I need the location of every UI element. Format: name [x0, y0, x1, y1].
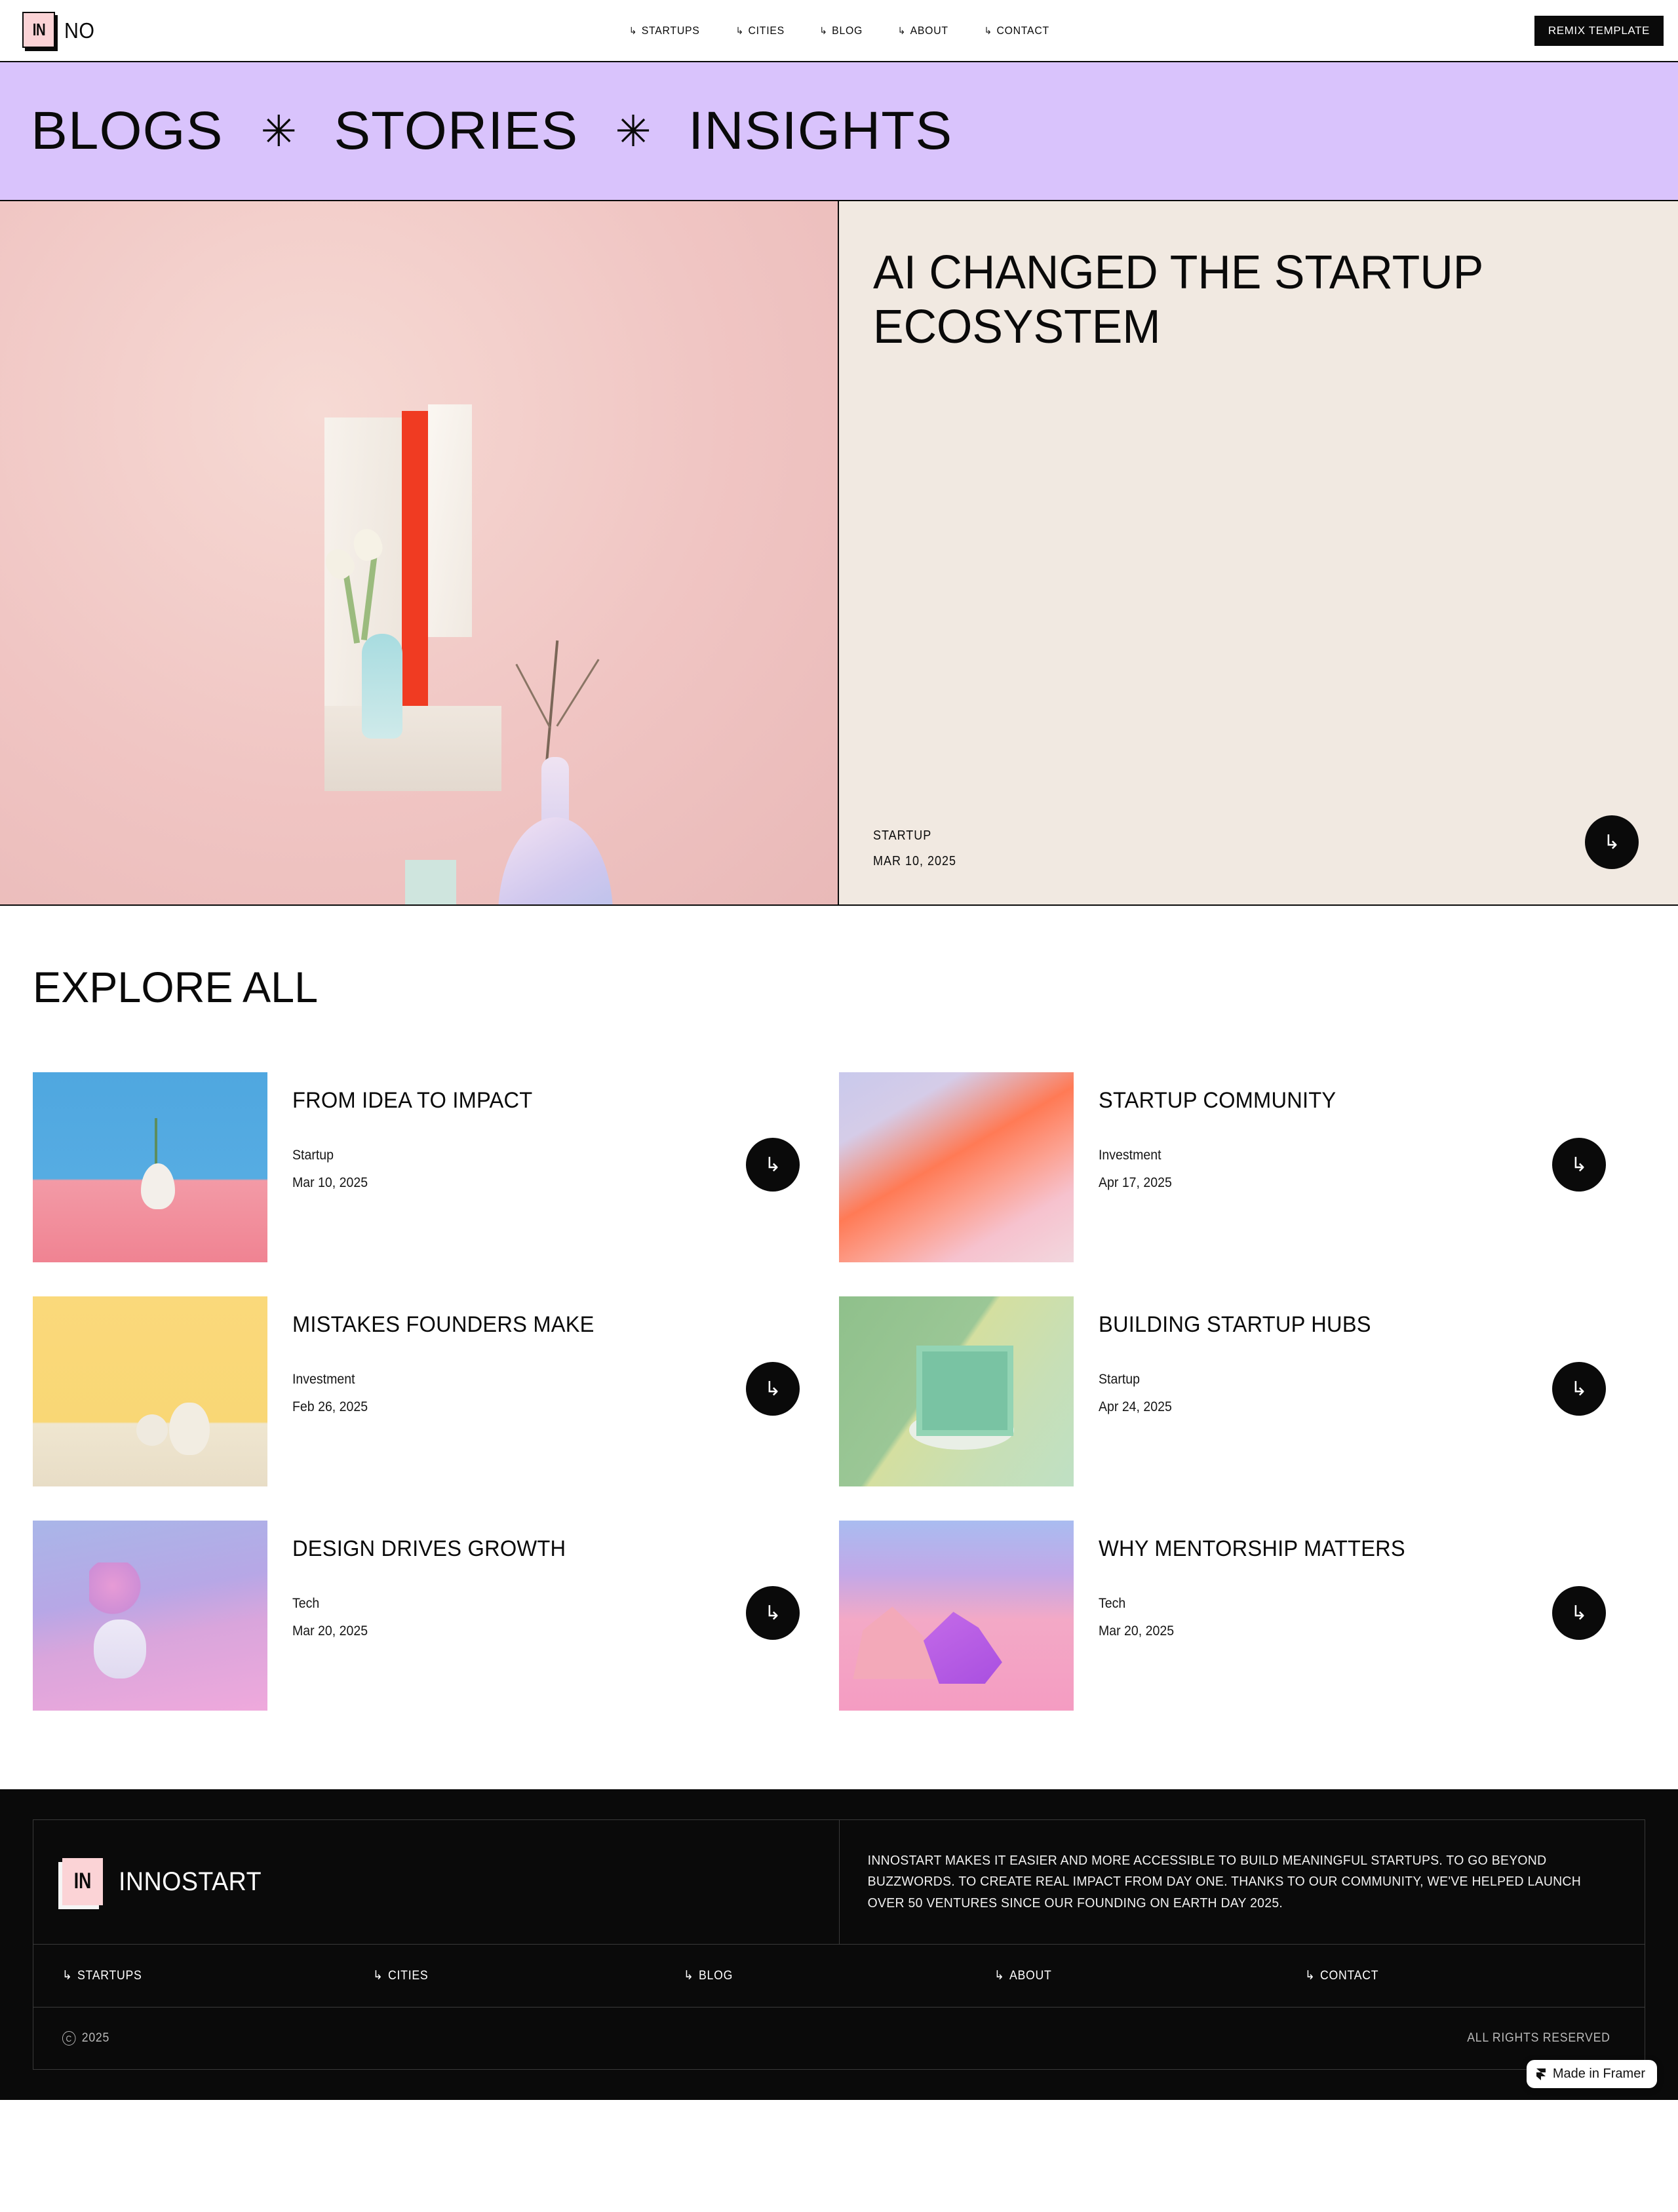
banner-word-stories: STORIES	[334, 100, 578, 162]
card-category: Tech	[292, 1596, 714, 1612]
brand-logo[interactable]: IN NO	[22, 12, 98, 50]
card-info: WHY MENTORSHIP MATTERS Tech Mar 20, 2025	[1074, 1521, 1552, 1639]
arrow-turn-icon: ↳	[1571, 1602, 1587, 1625]
footer-nav-label: ABOUT	[1009, 1969, 1052, 1983]
logo-mark-icon: IN	[22, 12, 58, 50]
nav-label: ABOUT	[910, 24, 948, 37]
card-read-more-button[interactable]: ↳	[746, 1586, 800, 1640]
footer-logo-mark-icon: IN	[62, 1858, 104, 1907]
explore-section: EXPLORE ALL FROM IDEA TO IMPACT Startup …	[0, 906, 1678, 1789]
card-category: Tech	[1099, 1596, 1521, 1612]
card-date: Mar 20, 2025	[1099, 1623, 1521, 1639]
card-info: BUILDING STARTUP HUBS Startup Apr 24, 20…	[1074, 1296, 1552, 1415]
card-thumbnail	[839, 1521, 1074, 1711]
card-read-more-button[interactable]: ↳	[746, 1362, 800, 1416]
footer-brand[interactable]: IN INNOSTART	[33, 1820, 840, 1944]
hero-date: MAR 10, 2025	[873, 854, 956, 869]
card-read-more-button[interactable]: ↳	[1552, 1138, 1606, 1192]
card-date: Mar 20, 2025	[292, 1623, 714, 1639]
card-date: Feb 26, 2025	[292, 1399, 714, 1415]
card-read-more-button[interactable]: ↳	[1552, 1586, 1606, 1640]
footer-nav-item-contact[interactable]: ↳CONTACT	[1305, 1968, 1594, 1983]
hero-image	[0, 201, 839, 904]
hero-footer: STARTUP MAR 10, 2025 ↳	[873, 815, 1639, 869]
card-title: FROM IDEA TO IMPACT	[292, 1088, 728, 1114]
footer-bottom-row: C 2025 ALL RIGHTS RESERVED	[33, 2007, 1645, 2069]
arrow-turn-icon: ↳	[1571, 1378, 1587, 1401]
nav-label: CITIES	[748, 24, 784, 37]
arrow-turn-icon: ↳	[1305, 1968, 1316, 1983]
card-date: Apr 17, 2025	[1099, 1175, 1521, 1191]
asterisk-icon: ✳	[261, 109, 297, 153]
remix-template-button[interactable]: REMIX TEMPLATE	[1534, 16, 1664, 46]
arrow-turn-icon: ↳	[764, 1602, 781, 1625]
card-thumbnail	[33, 1521, 267, 1711]
site-header: IN NO ↳STARTUPS ↳CITIES ↳BLOG ↳ABOUT ↳CO…	[0, 0, 1678, 62]
blog-card[interactable]: DESIGN DRIVES GROWTH Tech Mar 20, 2025 ↳	[33, 1521, 839, 1711]
banner-word-blogs: BLOGS	[31, 100, 223, 162]
hero-content: AI CHANGED THE STARTUP ECOSYSTEM STARTUP…	[839, 201, 1678, 904]
card-info: DESIGN DRIVES GROWTH Tech Mar 20, 2025	[267, 1521, 746, 1639]
footer-panel: IN INNOSTART INNOSTART MAKES IT EASIER A…	[33, 1819, 1645, 2070]
arrow-turn-icon: ↳	[1603, 831, 1620, 854]
nav-item-about[interactable]: ↳ABOUT	[897, 24, 948, 37]
arrow-turn-icon: ↳	[629, 25, 637, 37]
marquee-banner: BLOGS ✳ STORIES ✳ INSIGHTS	[0, 62, 1678, 201]
card-date: Mar 10, 2025	[292, 1175, 714, 1191]
logo-wordmark: NO	[64, 18, 94, 43]
copyright-icon: C	[62, 2031, 75, 2046]
nav-item-blog[interactable]: ↳BLOG	[819, 24, 863, 37]
blog-card[interactable]: BUILDING STARTUP HUBS Startup Apr 24, 20…	[839, 1296, 1645, 1486]
footer-nav: ↳STARTUPS ↳CITIES ↳BLOG ↳ABOUT ↳CONTACT	[33, 1944, 1645, 2007]
framer-badge-label: Made in Framer	[1553, 2066, 1645, 2082]
card-category: Startup	[292, 1148, 714, 1163]
card-info: STARTUP COMMUNITY Investment Apr 17, 202…	[1074, 1072, 1552, 1191]
nav-item-contact[interactable]: ↳CONTACT	[984, 24, 1049, 37]
footer-nav-label: BLOG	[699, 1969, 733, 1983]
rights-reserved: ALL RIGHTS RESERVED	[1467, 2031, 1610, 2046]
arrow-turn-icon: ↳	[764, 1378, 781, 1401]
footer-logo-mark-text: IN	[74, 1869, 92, 1894]
card-thumbnail	[33, 1296, 267, 1486]
footer-description: INNOSTART MAKES IT EASIER AND MORE ACCES…	[840, 1820, 1620, 1944]
footer-nav-label: CITIES	[388, 1969, 428, 1983]
card-title: STARTUP COMMUNITY	[1099, 1088, 1534, 1114]
card-info: FROM IDEA TO IMPACT Startup Mar 10, 2025	[267, 1072, 746, 1191]
primary-nav: ↳STARTUPS ↳CITIES ↳BLOG ↳ABOUT ↳CONTACT	[627, 24, 1052, 37]
framer-logo-icon	[1536, 2068, 1546, 2081]
blog-card[interactable]: STARTUP COMMUNITY Investment Apr 17, 202…	[839, 1072, 1645, 1262]
page-root: IN NO ↳STARTUPS ↳CITIES ↳BLOG ↳ABOUT ↳CO…	[0, 0, 1678, 2100]
arrow-turn-icon: ↳	[984, 25, 992, 37]
blog-card[interactable]: FROM IDEA TO IMPACT Startup Mar 10, 2025…	[33, 1072, 839, 1262]
card-read-more-button[interactable]: ↳	[1552, 1362, 1606, 1416]
card-title: WHY MENTORSHIP MATTERS	[1099, 1536, 1534, 1562]
banner-word-insights: INSIGHTS	[688, 100, 952, 162]
arrow-turn-icon: ↳	[994, 1968, 1005, 1983]
arrow-turn-icon: ↳	[764, 1154, 781, 1176]
hero-featured-post[interactable]: AI CHANGED THE STARTUP ECOSYSTEM STARTUP…	[0, 201, 1678, 906]
hero-category: STARTUP	[873, 828, 956, 844]
blog-card[interactable]: MISTAKES FOUNDERS MAKE Investment Feb 26…	[33, 1296, 839, 1486]
logo-mark-text: IN	[32, 20, 45, 40]
nav-item-cities[interactable]: ↳CITIES	[735, 24, 784, 37]
card-title: DESIGN DRIVES GROWTH	[292, 1536, 728, 1562]
card-read-more-button[interactable]: ↳	[746, 1138, 800, 1192]
card-date: Apr 24, 2025	[1099, 1399, 1521, 1415]
footer-nav-item-blog[interactable]: ↳BLOG	[684, 1968, 973, 1983]
card-thumbnail	[839, 1072, 1074, 1262]
nav-label: BLOG	[832, 24, 863, 37]
made-in-framer-badge[interactable]: Made in Framer	[1527, 2060, 1657, 2088]
arrow-turn-icon: ↳	[684, 1968, 694, 1983]
copyright-year: 2025	[82, 2031, 109, 2046]
card-title: BUILDING STARTUP HUBS	[1099, 1312, 1534, 1338]
hero-read-more-button[interactable]: ↳	[1585, 815, 1639, 869]
footer-nav-item-about[interactable]: ↳ABOUT	[994, 1968, 1283, 1983]
footer-nav-label: CONTACT	[1320, 1969, 1378, 1983]
copyright: C 2025	[62, 2031, 109, 2046]
card-category: Investment	[1099, 1148, 1521, 1163]
site-footer: IN INNOSTART INNOSTART MAKES IT EASIER A…	[0, 1789, 1678, 2100]
nav-label: STARTUPS	[642, 24, 700, 37]
footer-nav-item-startups[interactable]: ↳STARTUPS	[62, 1968, 351, 1983]
arrow-turn-icon: ↳	[819, 25, 827, 37]
blog-card-grid: FROM IDEA TO IMPACT Startup Mar 10, 2025…	[33, 1072, 1645, 1711]
arrow-turn-icon: ↳	[1571, 1154, 1587, 1176]
arrow-turn-icon: ↳	[373, 1968, 383, 1983]
footer-brand-name: INNOSTART	[119, 1867, 262, 1897]
hero-title: AI CHANGED THE STARTUP ECOSYSTEM	[873, 246, 1616, 355]
card-thumbnail	[839, 1296, 1074, 1486]
arrow-turn-icon: ↳	[897, 25, 905, 37]
card-thumbnail	[33, 1072, 267, 1262]
explore-title: EXPLORE ALL	[33, 962, 1613, 1012]
asterisk-icon: ✳	[615, 109, 651, 153]
footer-nav-item-cities[interactable]: ↳CITIES	[373, 1968, 662, 1983]
hero-meta: STARTUP MAR 10, 2025	[873, 828, 966, 869]
footer-top-row: IN INNOSTART INNOSTART MAKES IT EASIER A…	[33, 1820, 1645, 1944]
arrow-turn-icon: ↳	[735, 25, 743, 37]
nav-item-startups[interactable]: ↳STARTUPS	[629, 24, 700, 37]
card-info: MISTAKES FOUNDERS MAKE Investment Feb 26…	[267, 1296, 746, 1415]
card-title: MISTAKES FOUNDERS MAKE	[292, 1312, 728, 1338]
card-category: Investment	[292, 1372, 714, 1387]
card-category: Startup	[1099, 1372, 1521, 1387]
arrow-turn-icon: ↳	[62, 1968, 73, 1983]
nav-label: CONTACT	[996, 24, 1049, 37]
blog-card[interactable]: WHY MENTORSHIP MATTERS Tech Mar 20, 2025…	[839, 1521, 1645, 1711]
footer-nav-label: STARTUPS	[77, 1969, 142, 1983]
